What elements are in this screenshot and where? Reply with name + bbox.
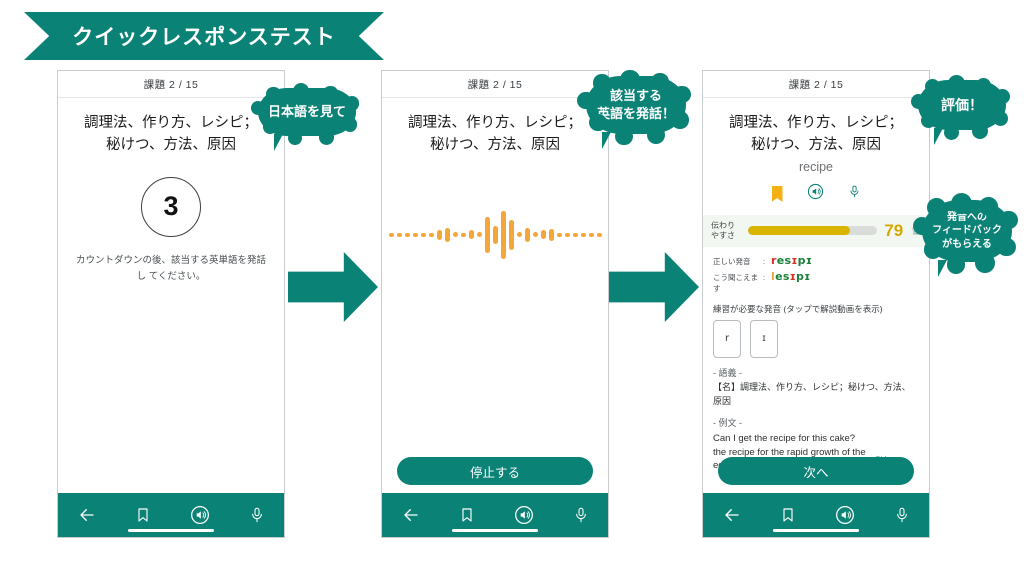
score-label: 伝わり やすさ	[711, 221, 741, 241]
prompt-line-2: 秘けつ、方法、原因	[394, 134, 596, 156]
bubble-lobe	[993, 111, 1008, 126]
callout-pronunciation-feedback: 発音へのフィードバックがもらえる	[922, 200, 1012, 262]
bubble-lobe	[593, 74, 610, 91]
callout-line: 英語を発話！	[597, 105, 675, 123]
bubble-lobe	[976, 78, 991, 93]
bubble-lobe	[266, 87, 280, 101]
bubble-lobe	[921, 113, 936, 128]
mic-icon[interactable]	[848, 183, 861, 205]
flow-arrow-2	[609, 252, 699, 322]
prompt-text: 調理法、作り方、レシピ； 秘けつ、方法、原因	[382, 98, 608, 157]
ipa-char: p	[796, 270, 804, 283]
examples-heading: - 例文 -	[713, 417, 919, 431]
home-indicator	[128, 529, 214, 532]
page-title-banner: クイックレスポンステスト	[24, 12, 384, 60]
ipa-colon: :	[763, 273, 771, 282]
ipa-char: s	[783, 270, 790, 283]
waveform-bar	[485, 217, 490, 253]
banner-title: クイックレスポンステスト	[72, 21, 336, 51]
callout-text: 評価！	[941, 96, 983, 115]
speaker-icon[interactable]	[807, 183, 824, 205]
bookmark-icon[interactable]	[135, 506, 151, 524]
callout-speak-english: 該当する英語を発話！	[586, 76, 686, 134]
screen-recording: 課題 2 / 15 調理法、作り方、レシピ； 秘けつ、方法、原因 停止する	[381, 70, 609, 538]
ipa-heard-label: こう聞こえます	[713, 272, 763, 294]
prompt-line-1: 調理法、作り方、レシピ；	[84, 115, 258, 131]
prompt-text: 調理法、作り方、レシピ； 秘けつ、方法、原因	[703, 98, 929, 157]
stop-button[interactable]: 停止する	[397, 457, 593, 485]
ipa-char: ɪ	[806, 254, 812, 267]
bubble-tail	[938, 260, 947, 277]
score-band: 伝わり やすさ 79 ♛	[703, 215, 929, 247]
waveform-bar	[445, 228, 450, 242]
score-value: 79	[884, 221, 903, 241]
bottom-nav-2	[382, 493, 608, 537]
screen-1-body: 調理法、作り方、レシピ； 秘けつ、方法、原因 3 カウントダウンの後、該当する英…	[58, 98, 284, 493]
task-progress-header: 課題 2 / 15	[382, 71, 608, 98]
ipa-comparison: 正しい発音 : resɪpɪ こう聞こえます : lesɪpɪ	[703, 247, 929, 294]
bubble-lobe	[319, 129, 334, 144]
next-button-wrap: 次へ	[703, 457, 929, 485]
bubble-lobe	[288, 131, 302, 145]
bubble-lobe	[913, 217, 932, 236]
waveform-bar	[389, 233, 394, 237]
practice-title: 練習が必要な発音 (タップで解説動画を表示)	[703, 297, 929, 315]
bubble-lobe	[671, 111, 688, 128]
waveform-bar	[429, 233, 434, 237]
screen-countdown: 課題 2 / 15 調理法、作り方、レシピ； 秘けつ、方法、原因 3 カウントダ…	[57, 70, 285, 538]
ipa-colon: :	[763, 257, 771, 266]
bubble-lobe	[615, 128, 632, 145]
bubble-lobe	[947, 255, 966, 274]
bubble-lobe	[620, 70, 640, 90]
bubble-lobe	[323, 86, 337, 100]
bubble-lobe	[927, 198, 946, 217]
waveform-bar	[525, 228, 530, 242]
back-icon[interactable]	[78, 506, 96, 524]
bookmark-icon[interactable]	[772, 186, 783, 202]
task-progress-header: 課題 2 / 15	[58, 71, 284, 98]
waveform-bar	[581, 233, 586, 237]
word-action-icons	[703, 183, 929, 205]
callout-line: 評価！	[941, 96, 983, 115]
next-button[interactable]: 次へ	[718, 457, 914, 485]
ipa-heard-row: こう聞こえます : lesɪpɪ	[713, 270, 919, 294]
callout-line: 日本語を見て	[268, 103, 346, 121]
waveform-bar	[589, 233, 594, 237]
waveform-bar	[573, 233, 578, 237]
ipa-char: e	[777, 254, 785, 267]
waveform-bar	[437, 230, 442, 240]
bubble-lobe	[651, 73, 668, 90]
mic-icon[interactable]	[894, 505, 910, 525]
bubble-tail	[934, 128, 943, 145]
mic-icon[interactable]	[249, 505, 265, 525]
ipa-correct-label: 正しい発音	[713, 256, 763, 267]
back-icon[interactable]	[723, 506, 741, 524]
waveform-bar	[421, 233, 426, 237]
speaker-icon[interactable]	[190, 505, 210, 525]
waveform-bar	[469, 230, 474, 239]
callout-line: がもらえる	[932, 238, 1002, 252]
ipa-heard-value: lesɪpɪ	[771, 270, 811, 283]
bubble-lobe	[673, 86, 690, 103]
waveform-bar	[517, 232, 522, 237]
waveform-bar	[557, 233, 562, 237]
waveform-bar	[501, 211, 506, 259]
bubble-lobe	[979, 197, 998, 216]
practice-phoneme-box[interactable]: ɪ	[750, 320, 778, 358]
screen-3-body: 調理法、作り方、レシピ； 秘けつ、方法、原因 recipe 伝わり やすさ 79…	[703, 98, 929, 493]
bubble-lobe	[925, 79, 940, 94]
bubble-lobe	[589, 114, 606, 131]
waveform-bar	[533, 232, 538, 237]
bottom-nav-1	[58, 493, 284, 537]
waveform-bar	[461, 233, 466, 237]
bubble-lobe	[975, 253, 995, 273]
meaning-text: 【名】調理法、作り方、レシピ；秘けつ、方法、原因	[713, 381, 919, 408]
meaning-section: - 語義 - 【名】調理法、作り方、レシピ；秘けつ、方法、原因	[703, 358, 929, 409]
bubble-lobe	[911, 94, 926, 109]
bubble-lobe	[263, 119, 277, 133]
bookmark-icon[interactable]	[459, 506, 475, 524]
bubble-lobe	[999, 211, 1018, 230]
waveform-bar	[565, 233, 570, 237]
callout-evaluation: 評価！	[918, 80, 1006, 130]
home-indicator	[773, 529, 859, 532]
waveform-bar	[477, 232, 482, 237]
waveform-bar	[493, 226, 498, 244]
prompt-line-2: 秘けつ、方法、原因	[70, 134, 272, 156]
bubble-lobe	[647, 126, 666, 145]
prompt-line-2: 秘けつ、方法、原因	[715, 134, 917, 156]
practice-phoneme-box[interactable]: r	[713, 320, 741, 358]
waveform-bar	[405, 233, 410, 237]
mic-icon[interactable]	[573, 505, 589, 525]
bubble-lobe	[251, 101, 265, 115]
waveform-bar	[509, 220, 514, 250]
callout-line: フィードバック	[932, 224, 1002, 238]
callout-text: 日本語を見て	[268, 103, 346, 121]
ipa-correct-value: resɪpɪ	[771, 254, 812, 267]
bubble-lobe	[924, 240, 943, 259]
ipa-char: e	[775, 270, 783, 283]
bubble-lobe	[948, 75, 965, 92]
bubble-tail	[274, 134, 283, 151]
meaning-heading: - 語義 -	[713, 367, 919, 381]
practice-phoneme-list: rɪ	[703, 315, 929, 358]
waveform-bar	[397, 233, 402, 237]
bubble-lobe	[997, 238, 1016, 257]
stop-button-wrap: 停止する	[382, 457, 608, 485]
waveform-bar	[453, 232, 458, 237]
screen-result: 課題 2 / 15 調理法、作り方、レシピ； 秘けつ、方法、原因 recipe …	[702, 70, 930, 538]
english-word: recipe	[703, 160, 929, 174]
bubble-lobe	[995, 89, 1010, 104]
bubble-tail	[602, 132, 611, 149]
bubble-lobe	[944, 125, 959, 140]
score-bar-track	[748, 226, 877, 235]
screen-2-body: 調理法、作り方、レシピ； 秘けつ、方法、原因 停止する	[382, 98, 608, 493]
countdown-number: 3	[141, 177, 201, 237]
callout-text: 発音へのフィードバックがもらえる	[932, 211, 1002, 252]
ipa-char: ɪ	[804, 270, 810, 283]
bubble-lobe	[577, 92, 594, 109]
callout-text: 該当する英語を発話！	[597, 87, 675, 122]
prompt-line-1: 調理法、作り方、レシピ；	[408, 115, 582, 131]
ipa-correct-row: 正しい発音 : resɪpɪ	[713, 254, 919, 267]
countdown-wrap: 3	[58, 177, 284, 237]
score-bar-fill	[748, 226, 850, 235]
audio-waveform	[382, 195, 608, 275]
ipa-char: p	[798, 254, 806, 267]
speaker-icon[interactable]	[514, 505, 534, 525]
speaker-icon[interactable]	[835, 505, 855, 525]
bubble-lobe	[343, 117, 357, 131]
waveform-bar	[549, 229, 554, 241]
task-progress-header: 課題 2 / 15	[703, 71, 929, 98]
bubble-lobe	[972, 123, 988, 139]
bookmark-icon[interactable]	[780, 506, 796, 524]
instruction-text: カウントダウンの後、該当する英単語を発話し てください。	[58, 253, 284, 285]
bubble-lobe	[345, 96, 359, 110]
waveform-bar	[541, 230, 546, 239]
bottom-nav-3	[703, 493, 929, 537]
score-label-line-1: 伝わり	[711, 221, 741, 231]
callout-see-japanese: 日本語を見て	[258, 88, 356, 136]
waveform-bar	[597, 233, 602, 237]
score-label-line-2: やすさ	[711, 231, 741, 241]
bubble-lobe	[293, 83, 309, 99]
waveform-bar	[413, 233, 418, 237]
instruction-line-2: てください。	[149, 271, 206, 282]
prompt-line-1: 調理法、作り方、レシピ；	[729, 115, 903, 131]
flow-arrow-1	[288, 252, 378, 322]
home-indicator	[452, 529, 538, 532]
back-icon[interactable]	[402, 506, 420, 524]
example-sentence-1: Can I get the recipe for this cake?	[713, 432, 919, 446]
